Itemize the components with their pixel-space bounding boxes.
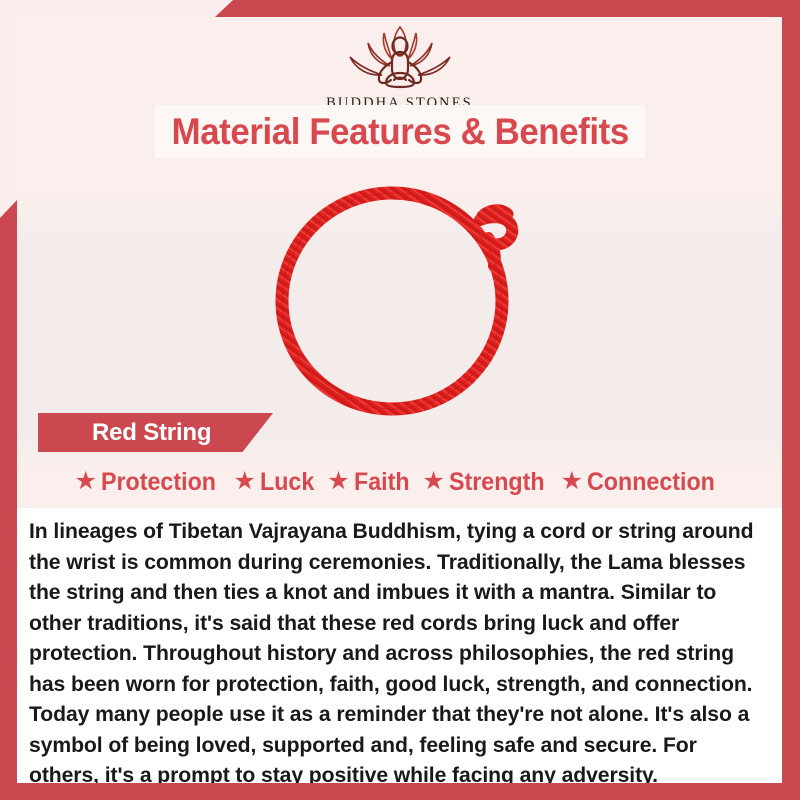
content-canvas: BUDDHA STONES Material Features & Benefi… (17, 17, 782, 783)
product-image-area (17, 165, 782, 423)
star-icon: ★ (327, 469, 349, 494)
benefit-label: Protection (101, 468, 216, 497)
benefit-item: ★ Strength (422, 468, 551, 497)
page-title: Material Features & Benefits (171, 111, 628, 153)
benefit-item: ★ Connection (561, 468, 725, 497)
description-panel: In lineages of Tibetan Vajrayana Buddhis… (17, 508, 782, 783)
frame-left-bar (0, 200, 17, 800)
benefit-item: ★ Faith (327, 468, 413, 497)
benefits-row: ★ Protection ★ Luck ★ Faith ★ Strength ★… (17, 461, 782, 503)
frame-top-bar (215, 0, 800, 17)
product-label: Red String (92, 419, 211, 447)
star-icon: ★ (234, 469, 256, 494)
description-text: In lineages of Tibetan Vajrayana Buddhis… (29, 516, 756, 783)
product-label-banner: Red String (38, 413, 273, 452)
benefit-label: Connection (587, 468, 715, 497)
title-banner: Material Features & Benefits (155, 105, 645, 158)
infographic-page: BUDDHA STONES Material Features & Benefi… (0, 0, 800, 800)
benefit-label: Luck (260, 468, 314, 497)
frame-right-bar (782, 0, 800, 800)
star-icon: ★ (422, 469, 444, 494)
frame-bottom-bar (0, 783, 800, 800)
benefit-item: ★ Luck (234, 468, 319, 497)
star-icon: ★ (561, 469, 583, 494)
red-braided-string-bracelet-image (266, 168, 534, 420)
benefit-label: Strength (449, 468, 545, 497)
benefit-item: ★ Protection (74, 468, 224, 497)
brand-logo: BUDDHA STONES (17, 17, 782, 112)
benefit-label: Faith (354, 468, 410, 497)
star-icon: ★ (74, 469, 96, 494)
lotus-meditation-figure-icon (334, 17, 466, 93)
